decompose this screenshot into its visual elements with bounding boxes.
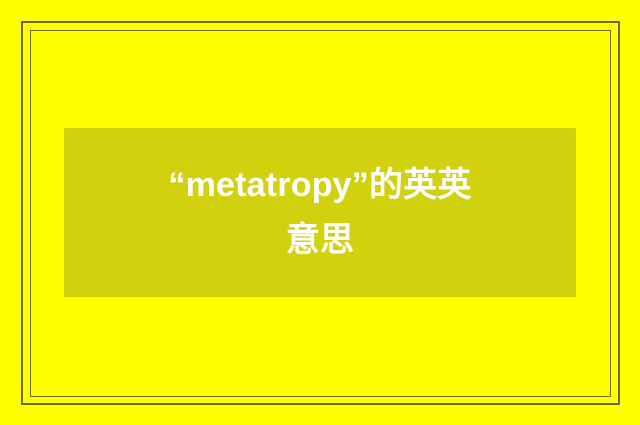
title-banner: “metatropy”的英英意思 bbox=[64, 128, 576, 297]
banner-title-text: “metatropy”的英英意思 bbox=[156, 158, 484, 267]
poster-canvas: “metatropy”的英英意思 bbox=[0, 0, 640, 425]
